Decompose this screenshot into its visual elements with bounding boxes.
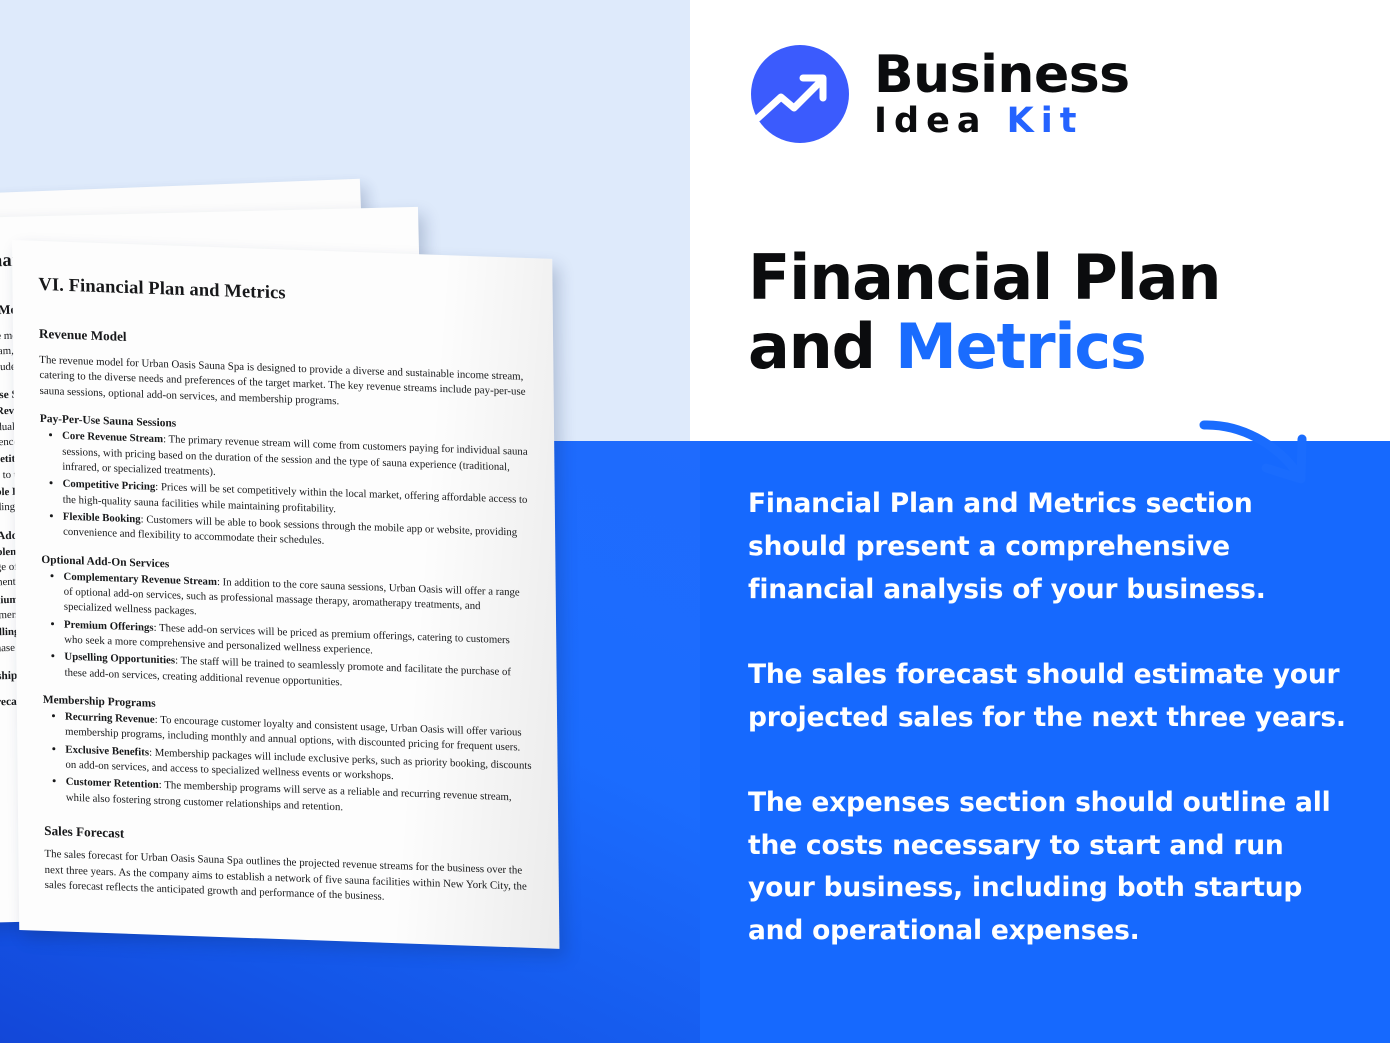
bullet-term: Flexible Booking	[63, 511, 141, 526]
doc-bullet-list: Complementary Revenue Stream: In additio…	[41, 569, 530, 697]
brand-wordmark: Business Idea Kit	[874, 49, 1130, 139]
body-paragraph-3: The expenses section should outline all …	[748, 782, 1353, 954]
brand-logo[interactable]: Business Idea Kit	[748, 42, 1130, 146]
page-title-accent: Metrics	[895, 310, 1145, 383]
slide-canvas: VI. Financial Plan and Metrics Revenue M…	[0, 0, 1390, 1043]
body-copy-block: Financial Plan and Metrics section shoul…	[748, 483, 1353, 953]
doc-section-heading: Revenue Model	[39, 326, 527, 359]
bullet-term: Core Revenue Stream	[62, 430, 163, 446]
doc-heading: VI. Financial Plan and Metrics	[38, 275, 526, 313]
body-paragraph-1: Financial Plan and Metrics section shoul…	[748, 483, 1353, 612]
brand-idea-text: Idea	[874, 101, 987, 141]
brand-kit-text: Kit	[1007, 101, 1084, 141]
bullet-term: Recurring Revenue	[65, 711, 155, 726]
document-page-front: VI. Financial Plan and Metrics Revenue M…	[12, 240, 559, 949]
doc-forecast-paragraph: The sales forecast for Urban Oasis Sauna…	[44, 847, 533, 910]
brand-name-line1: Business	[874, 49, 1130, 101]
bullet-term: Complementary Revenue Stream	[63, 570, 217, 587]
doc-bullet-list: Core Revenue Stream: The primary revenue…	[40, 428, 529, 556]
page-title-and: and	[748, 310, 895, 383]
page-title: Financial Plan and Metrics	[748, 243, 1368, 382]
trending-up-arrow-in-circle-icon	[748, 42, 852, 146]
bullet-term: Premium Offerings	[64, 618, 154, 633]
right-content-column: Business Idea Kit Financial Plan and Met…	[690, 0, 1390, 1043]
bullet-term: Upselling Opportunities	[64, 651, 175, 667]
doc-section-paragraph: The revenue model for Urban Oasis Sauna …	[39, 353, 528, 416]
body-paragraph-2: The sales forecast should estimate your …	[748, 654, 1353, 740]
document-stack: VI. Financial Plan and Metrics Revenue M…	[0, 0, 700, 1043]
doc-bullet-list: Recurring Revenue: To encourage customer…	[43, 709, 532, 822]
bullet-term: Customer Retention	[66, 776, 159, 791]
brand-name-line2: Idea Kit	[874, 104, 1130, 139]
bullet-term: Exclusive Benefits	[65, 743, 149, 758]
page-title-line1: Financial Plan	[748, 243, 1368, 312]
bullet-term: Competitive Pricing	[62, 478, 155, 493]
page-title-line2: and Metrics	[748, 312, 1368, 381]
